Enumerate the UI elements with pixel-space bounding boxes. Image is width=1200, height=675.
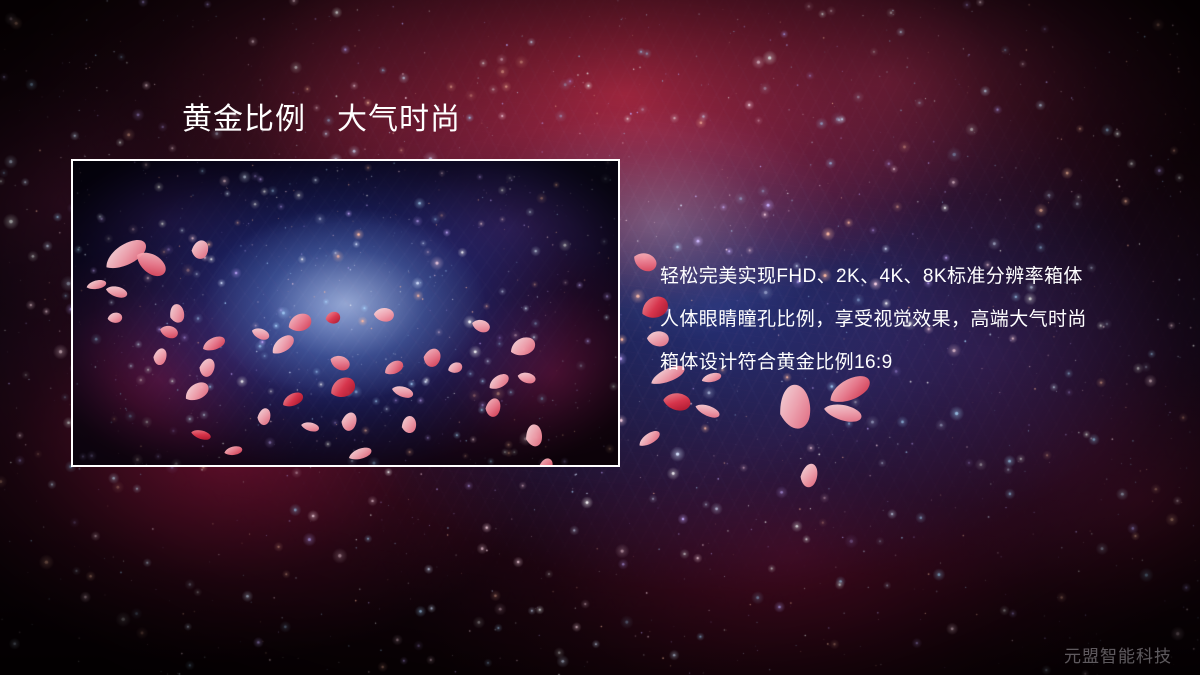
panel-vignette: [73, 161, 618, 465]
body-line-3: 箱体设计符合黄金比例16:9: [660, 341, 1087, 384]
slide-canvas: 黄金比例 大气时尚 轻松完美实现FHD、2K、4K、8K标准分辨率箱体 人体眼睛…: [0, 0, 1200, 675]
body-copy: 轻松完美实现FHD、2K、4K、8K标准分辨率箱体 人体眼睛瞳孔比例，享受视觉效…: [660, 255, 1087, 384]
body-line-2: 人体眼睛瞳孔比例，享受视觉效果，高端大气时尚: [660, 298, 1087, 341]
page-title: 黄金比例 大气时尚: [182, 101, 461, 139]
framed-image-panel[interactable]: [71, 159, 620, 467]
watermark: 元盟智能科技: [1064, 646, 1172, 668]
body-line-1: 轻松完美实现FHD、2K、4K、8K标准分辨率箱体: [660, 255, 1087, 298]
